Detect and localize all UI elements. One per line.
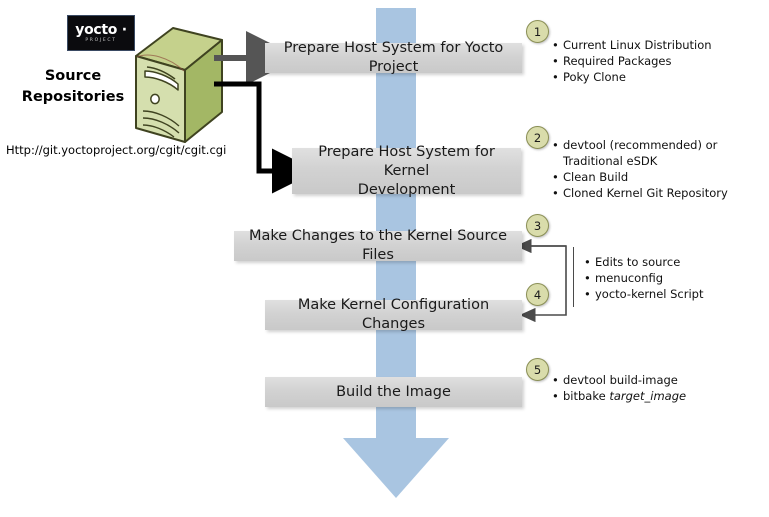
process-box-step-3[interactable]: Make Changes to the Kernel Source Files [234, 231, 522, 261]
list-item: Clean Build [552, 169, 764, 185]
process-box-step-1-label: Prepare Host System for Yocto Project [273, 39, 514, 77]
list-item-text: devtool build-image [563, 373, 678, 387]
bullet-list-steps-3-4: Edits to source menuconfig yocto-kernel … [584, 254, 764, 302]
list-item: Cloned Kernel Git Repository [552, 185, 764, 201]
step-number-badge-3: 3 [526, 214, 549, 237]
arrow-server-to-step2 [214, 84, 277, 171]
list-item: Edits to source [584, 254, 764, 270]
process-box-step-1[interactable]: Prepare Host System for Yocto Project [265, 43, 522, 73]
diagram-canvas: yocto · PROJECT Source Repositories Http… [0, 0, 769, 517]
process-box-step-5[interactable]: Build the Image [265, 377, 522, 407]
step-number-badge-4: 4 [526, 283, 549, 306]
list-item: Current Linux Distribution [552, 37, 762, 53]
process-box-step-2-line2: Development [358, 182, 456, 198]
list-item: devtool (recommended) or Traditional eSD… [552, 137, 764, 169]
process-box-step-2-label: Prepare Host System for Kernel Developme… [300, 143, 513, 200]
bullet-list-divider [573, 247, 574, 307]
bullet-list-step-1: Current Linux Distribution Required Pack… [552, 37, 762, 85]
process-box-step-3-label: Make Changes to the Kernel Source Files [242, 227, 514, 265]
list-item: devtool build-image [552, 372, 752, 388]
list-item-text: bitbake [563, 389, 609, 403]
process-box-step-2[interactable]: Prepare Host System for Kernel Developme… [292, 148, 521, 194]
list-item: bitbake target_image [552, 388, 752, 404]
process-box-step-2-line1: Prepare Host System for Kernel [318, 144, 495, 179]
bullet-list-step-5: devtool build-image bitbake target_image [552, 372, 752, 404]
process-box-step-4-label: Make Kernel Configuration Changes [273, 296, 514, 334]
list-item-line1: devtool (recommended) or [563, 138, 717, 152]
list-item-emphasis: target_image [609, 389, 686, 403]
list-item: menuconfig [584, 270, 764, 286]
process-box-step-4[interactable]: Make Kernel Configuration Changes [265, 300, 522, 330]
list-item-line2: Traditional eSDK [563, 153, 764, 169]
step-number-badge-1: 1 [526, 20, 549, 43]
step-number-badge-2: 2 [526, 126, 549, 149]
list-item: yocto-kernel Script [584, 286, 764, 302]
list-item: Required Packages [552, 53, 762, 69]
bullet-list-step-2: devtool (recommended) or Traditional eSD… [552, 137, 764, 201]
list-item: Poky Clone [552, 69, 762, 85]
process-box-step-5-label: Build the Image [336, 383, 451, 402]
step-number-badge-5: 5 [526, 358, 549, 381]
